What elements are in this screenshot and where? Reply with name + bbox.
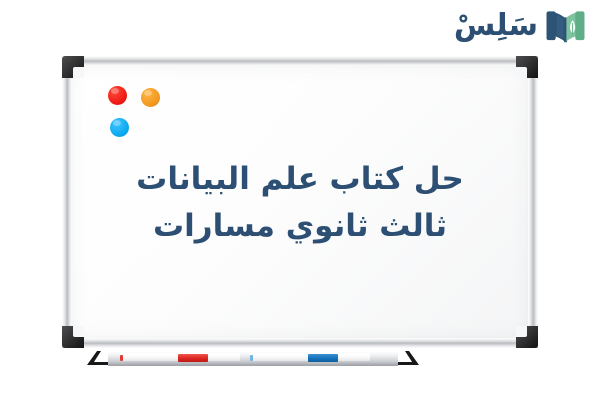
marker-red-tip-icon [120,355,123,361]
marker-blue-tip-icon [250,355,253,361]
frame-corner-bottom-right [516,326,538,348]
magnet-orange-icon[interactable] [141,88,160,107]
marker-tray [86,345,420,371]
magnet-group [108,86,172,144]
frame-rail-top [62,56,538,66]
magnet-blue-icon[interactable] [110,118,129,137]
board-headline: حل كتاب علم البيانات ثالث ثانوي مسارات [80,156,520,249]
marker-blue[interactable] [250,353,370,361]
brand-logo[interactable]: سَلِسْ [454,4,588,50]
frame-rail-left [62,56,72,348]
tray-lip [108,362,398,366]
whiteboard-surface: حل كتاب علم البيانات ثالث ثانوي مسارات [70,64,530,340]
frame-corner-top-left [62,56,84,78]
tray-bracket-left-icon [86,349,110,366]
marker-red[interactable] [120,353,240,361]
board-headline-line-2: ثالث ثانوي مسارات [80,203,520,250]
marker-blue-cap-icon [308,354,338,362]
brand-wordmark: سَلِسْ [454,11,538,44]
frame-rail-right [528,56,538,348]
poster-canvas: سَلِسْ [0,0,600,400]
marker-red-cap-icon [178,354,208,362]
frame-corner-bottom-left [62,326,84,348]
frame-corner-top-right [516,56,538,78]
open-book-icon [544,7,588,47]
board-headline-line-1: حل كتاب علم البيانات [80,156,520,203]
tray-bracket-right-icon [396,349,420,366]
magnet-red-icon[interactable] [108,86,127,105]
whiteboard: حل كتاب علم البيانات ثالث ثانوي مسارات [62,56,538,348]
